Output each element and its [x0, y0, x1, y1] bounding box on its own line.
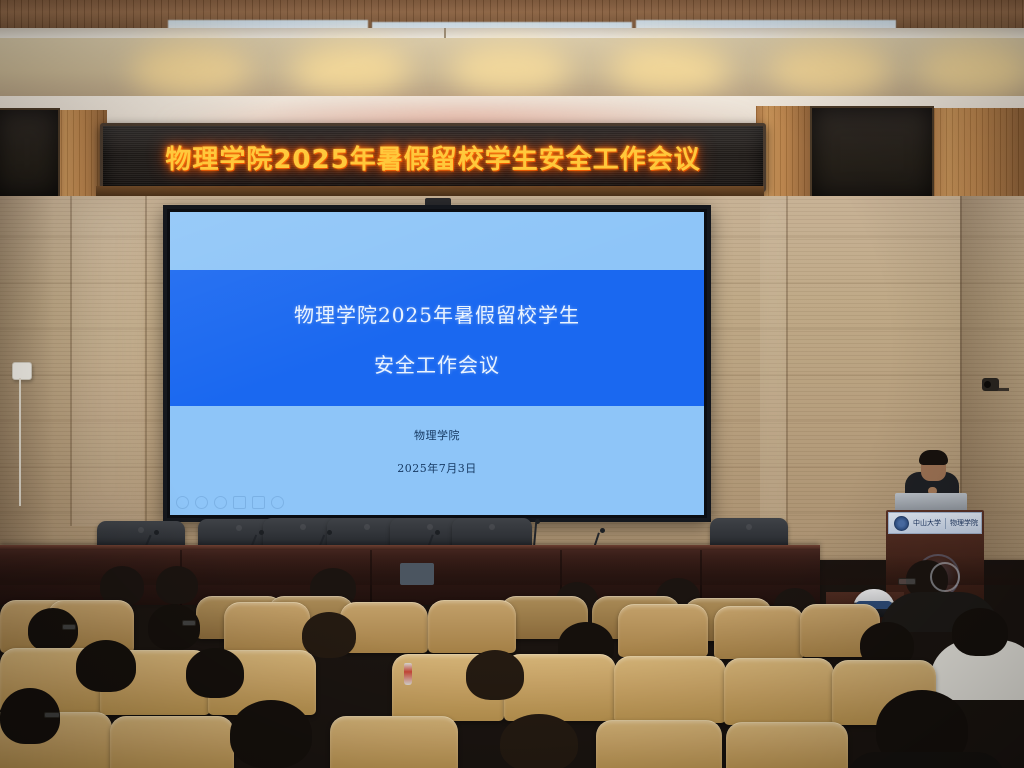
wall-camera-lens-icon — [984, 381, 991, 388]
audience-head — [952, 608, 1008, 656]
podium-laptop — [895, 493, 967, 511]
audience-head — [76, 640, 136, 692]
university-emblem-icon — [894, 516, 909, 531]
slide-toolbar[interactable] — [176, 496, 284, 509]
wall-stone-slab — [72, 196, 144, 526]
audience-head — [156, 566, 198, 604]
seat — [224, 602, 310, 653]
wall-sensor-cable — [19, 378, 21, 506]
seat — [110, 716, 234, 768]
tshirt-logo — [930, 562, 960, 592]
wall-dark-panel-left — [0, 108, 60, 200]
microphone-head — [600, 528, 605, 533]
ceiling-upper-band — [0, 38, 1024, 98]
seat — [724, 658, 834, 725]
audience-head — [302, 612, 356, 658]
play-icon[interactable] — [176, 496, 189, 509]
audience-glasses — [182, 620, 196, 626]
microphone-head — [154, 530, 159, 535]
audience-head — [186, 648, 244, 698]
auditorium-scene: 物理学院2025年暑假留校学生安全工作会议 物理学院2025年暑假留校学生 安全… — [0, 0, 1024, 768]
wall-dark-panel-right — [810, 106, 934, 202]
podium-nameplate: 中山大学 物理学院 — [888, 512, 982, 534]
seat — [428, 600, 516, 653]
seat — [714, 606, 804, 659]
audience-shoulders — [846, 752, 1006, 768]
audience-head — [28, 608, 78, 652]
slide-date: 2025年7月3日 — [397, 460, 477, 476]
seat — [330, 716, 458, 768]
podium-college-name: 物理学院 — [950, 518, 978, 528]
podium-plate-divider — [945, 518, 946, 529]
wall-seam — [786, 196, 788, 546]
wood-paneling-right — [928, 108, 1024, 206]
keyboard-icon[interactable] — [252, 496, 265, 509]
seat — [618, 604, 708, 657]
wall-sensor-icon — [12, 362, 32, 380]
audience-head — [466, 650, 524, 700]
wall-seam — [70, 196, 72, 526]
audience-glasses — [898, 578, 916, 585]
slide-footer-block: 物理学院 2025年7月3日 — [170, 427, 704, 476]
seat — [596, 720, 722, 768]
audience-glasses — [44, 712, 60, 718]
seat — [726, 722, 848, 768]
led-banner-text: 物理学院2025年暑假留校学生安全工作会议 — [165, 139, 700, 176]
audience-head — [500, 714, 578, 768]
water-bottle — [404, 663, 412, 685]
audience-head — [148, 604, 200, 650]
audience-head — [230, 700, 312, 768]
audience-shadow-band — [0, 555, 1024, 585]
seat — [614, 656, 726, 723]
pause-icon[interactable] — [195, 496, 208, 509]
projection-screen[interactable]: 物理学院2025年暑假留校学生 安全工作会议 物理学院 2025年7月3日 — [163, 205, 711, 522]
more-icon[interactable] — [271, 496, 284, 509]
wall-seam — [145, 196, 147, 526]
slide-org-name: 物理学院 — [414, 427, 460, 443]
menu-icon[interactable] — [233, 496, 246, 509]
microphone-head — [327, 530, 332, 535]
microphone-head — [535, 519, 540, 524]
head-table-surface — [0, 545, 820, 550]
slide-title-line-1: 物理学院2025年暑假留校学生 — [294, 299, 580, 328]
pen-icon[interactable] — [214, 496, 227, 509]
audience-glasses — [62, 624, 76, 630]
microphone-head — [259, 530, 264, 535]
led-banner: 物理学院2025年暑假留校学生安全工作会议 — [100, 123, 766, 192]
wall-stone-slab — [760, 196, 786, 546]
led-banner-ledge — [96, 186, 764, 196]
slide-surface: 物理学院2025年暑假留校学生 安全工作会议 物理学院 2025年7月3日 — [170, 212, 704, 515]
speaker-hair — [919, 450, 948, 465]
microphone-head — [435, 530, 440, 535]
slide-title-block: 物理学院2025年暑假留校学生 安全工作会议 — [170, 270, 704, 406]
podium-university-name: 中山大学 — [913, 518, 941, 528]
slide-title-line-2: 安全工作会议 — [374, 349, 500, 378]
audience-laptop — [400, 563, 434, 585]
